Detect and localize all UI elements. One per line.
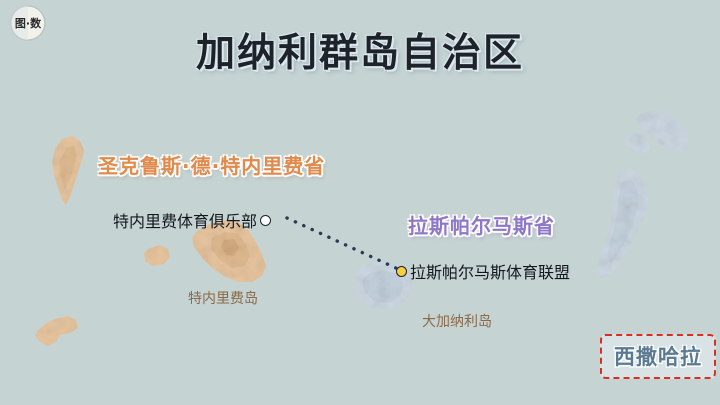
province-label-las-palmas: 拉斯帕尔马斯省 bbox=[408, 210, 555, 239]
club-name-ud-las-palmas: 拉斯帕尔马斯体育联盟 bbox=[410, 259, 570, 283]
province-label-santa-cruz: 圣克鲁斯·德·特内里费省 bbox=[98, 150, 325, 179]
club-label-ud-las-palmas: 拉斯帕尔马斯体育联盟 bbox=[396, 259, 570, 283]
club-label-cd-tenerife: 特内里费体育俱乐部 bbox=[113, 208, 271, 232]
neighbor-country-label: 西撒哈拉 bbox=[614, 345, 702, 369]
gold-circle-marker[interactable] bbox=[396, 266, 407, 277]
white-circle-marker[interactable] bbox=[260, 215, 271, 226]
neighbor-country-box: 西撒哈拉 bbox=[600, 334, 716, 379]
watermark-logo: 图·数 bbox=[6, 4, 50, 42]
watermark-label: 图·数 bbox=[6, 4, 50, 42]
club-name-cd-tenerife: 特内里费体育俱乐部 bbox=[113, 208, 257, 232]
page-title: 加纳利群岛自治区 bbox=[0, 22, 720, 78]
island-label-tenerife: 特内里费岛 bbox=[188, 288, 258, 308]
island-label-gran-canaria: 大加纳利岛 bbox=[422, 311, 492, 331]
